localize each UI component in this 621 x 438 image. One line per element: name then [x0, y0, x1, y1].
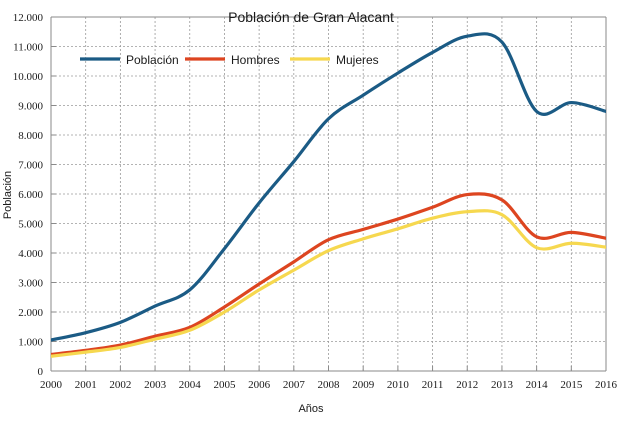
plot-background	[0, 0, 621, 438]
y-tick-label: 7.000	[18, 160, 43, 172]
x-tick-label: 2007	[283, 379, 306, 391]
y-axis-title: Población	[2, 171, 14, 219]
x-tick-label: 2002	[109, 379, 131, 391]
legend-label-mujeres: Mujeres	[336, 53, 379, 67]
y-tick-label: 11.000	[13, 42, 43, 54]
y-tick-label: 2.000	[18, 307, 43, 319]
x-tick-label: 2015	[560, 379, 583, 391]
x-tick-label: 2006	[248, 379, 271, 391]
legend-label-hombres: Hombres	[231, 53, 280, 67]
y-tick-label: 12.000	[13, 12, 44, 24]
x-tick-label: 2012	[456, 379, 478, 391]
y-tick-label: 3.000	[18, 278, 43, 290]
x-tick-label: 2005	[213, 379, 236, 391]
x-axis-title: Años	[298, 403, 324, 415]
y-tick-label: 10.000	[13, 71, 44, 83]
x-tick-label: 2016	[595, 379, 618, 391]
chart-title: Población de Gran Alacant	[228, 9, 394, 25]
x-tick-label: 2011	[422, 379, 444, 391]
x-tick-label: 2000	[40, 379, 63, 391]
y-tick-label: 9.000	[18, 101, 43, 113]
legend-label-poblacin: Población	[126, 53, 179, 67]
x-tick-label: 2009	[352, 379, 375, 391]
y-tick-label: 6.000	[18, 189, 43, 201]
y-tick-label: 5.000	[18, 219, 43, 231]
x-tick-label: 2003	[144, 379, 167, 391]
x-tick-label: 2014	[526, 379, 549, 391]
x-tick-label: 2013	[491, 379, 514, 391]
population-line-chart: 01.0002.0003.0004.0005.0006.0007.0008.00…	[0, 0, 621, 438]
y-tick-label: 8.000	[18, 130, 43, 142]
y-tick-label: 4.000	[18, 248, 43, 260]
y-tick-label: 1.000	[18, 337, 43, 349]
chart-container: 01.0002.0003.0004.0005.0006.0007.0008.00…	[0, 0, 621, 438]
y-tick-label: 0	[38, 366, 44, 378]
x-tick-label: 2004	[179, 379, 202, 391]
x-tick-label: 2010	[387, 379, 410, 391]
x-tick-label: 2001	[75, 379, 97, 391]
x-tick-label: 2008	[318, 379, 341, 391]
